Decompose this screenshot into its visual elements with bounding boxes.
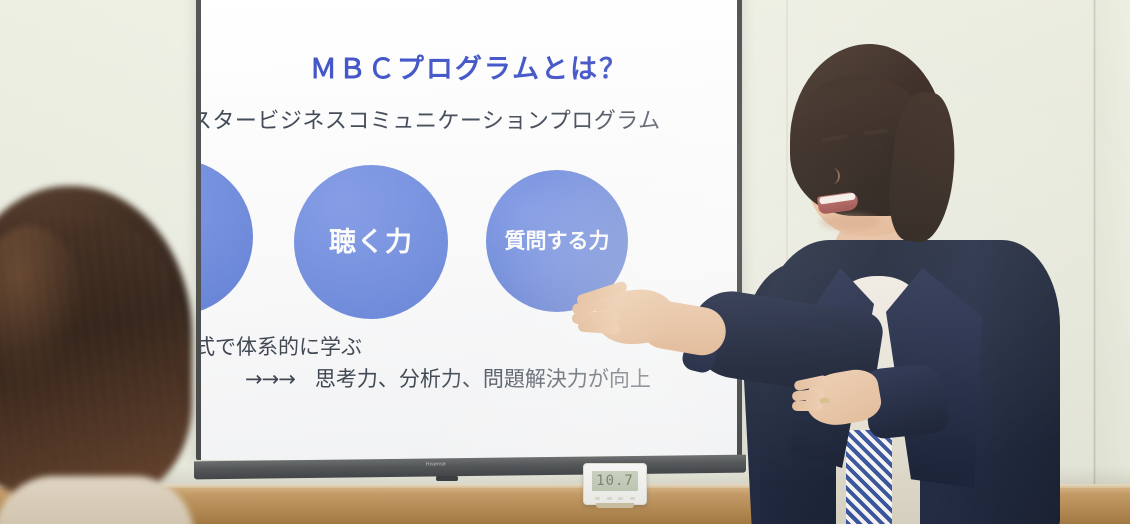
presenter-finger	[578, 321, 621, 335]
presenter-finger	[792, 401, 822, 411]
student-shoulder	[0, 476, 194, 524]
presenter-nose	[826, 168, 840, 184]
presenter-chin-shadow	[820, 214, 880, 230]
presenter-ring	[820, 398, 829, 404]
classroom-photo-scene: ＭＢＣプログラムとは？ マスタービジネスコミュニケーションプログラム す力 聴く…	[0, 0, 1130, 524]
foreground-student	[0, 186, 202, 524]
presenter-patterned-garment	[846, 430, 892, 524]
